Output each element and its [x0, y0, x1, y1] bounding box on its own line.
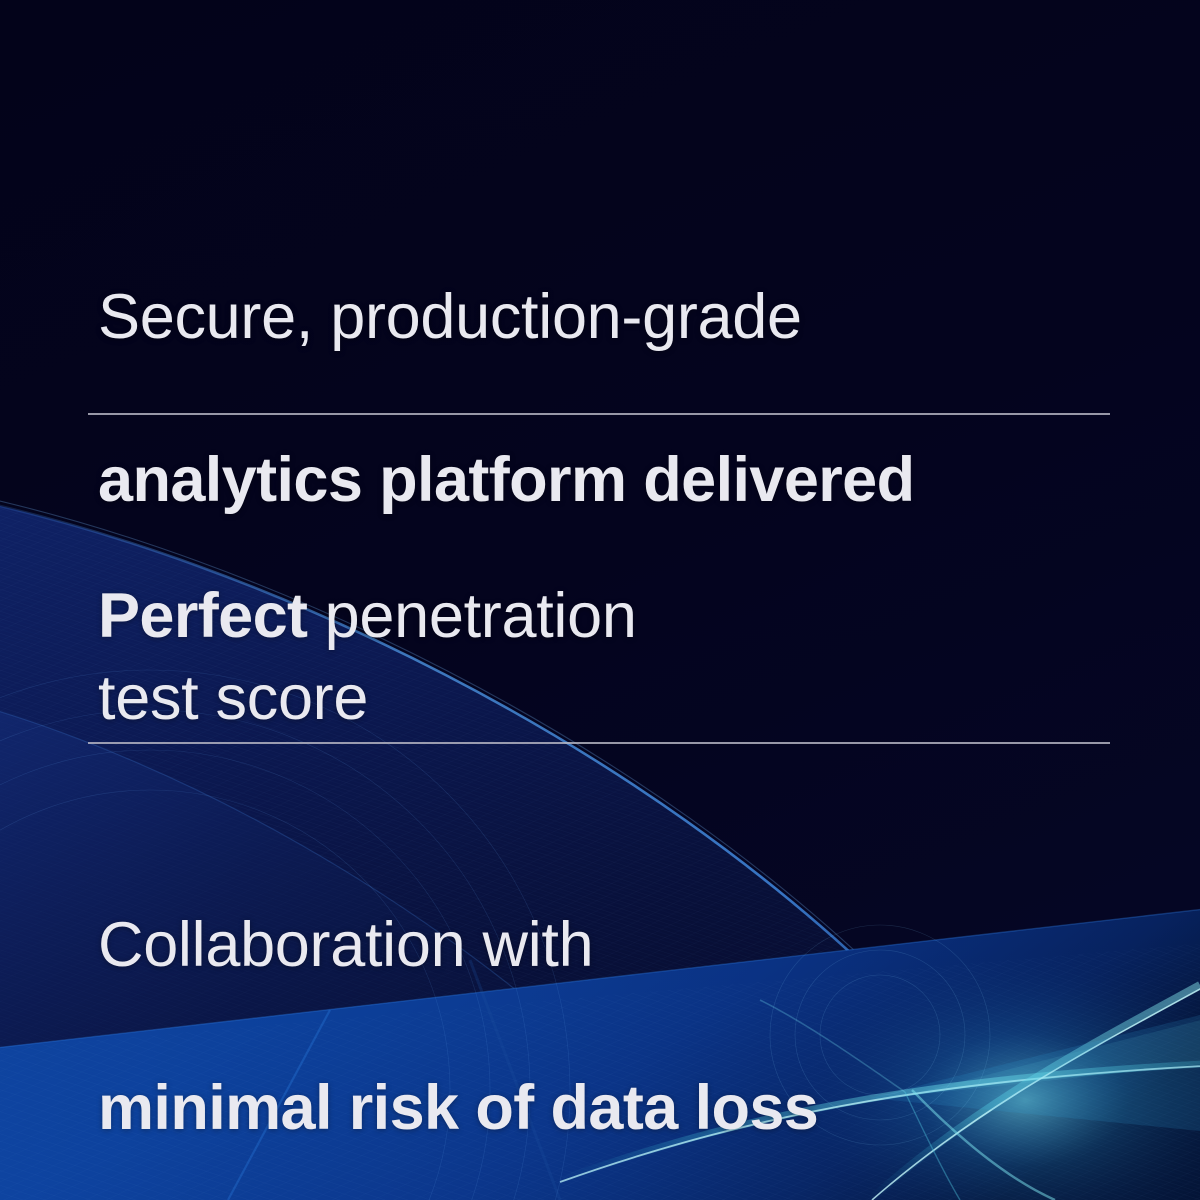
statement-item-2: Perfect penetration test score	[98, 495, 1158, 739]
statement-item-3: Collaboration with minimal risk of data …	[98, 824, 1158, 1149]
statement-list: Secure, production-grade analytics platf…	[0, 0, 1200, 1200]
statement-1-regular-text: Secure, production-grade	[98, 282, 802, 352]
divider-2	[88, 742, 1110, 744]
poster-canvas: Secure, production-grade analytics platf…	[0, 0, 1200, 1200]
statement-2-bold-text: Perfect	[98, 581, 307, 651]
divider-1	[88, 413, 1110, 415]
statement-3-regular-text: Collaboration with	[98, 910, 593, 980]
statement-3-bold-text: minimal risk of data loss	[98, 1073, 818, 1143]
statement-item-1: Secure, production-grade analytics platf…	[98, 196, 1158, 521]
